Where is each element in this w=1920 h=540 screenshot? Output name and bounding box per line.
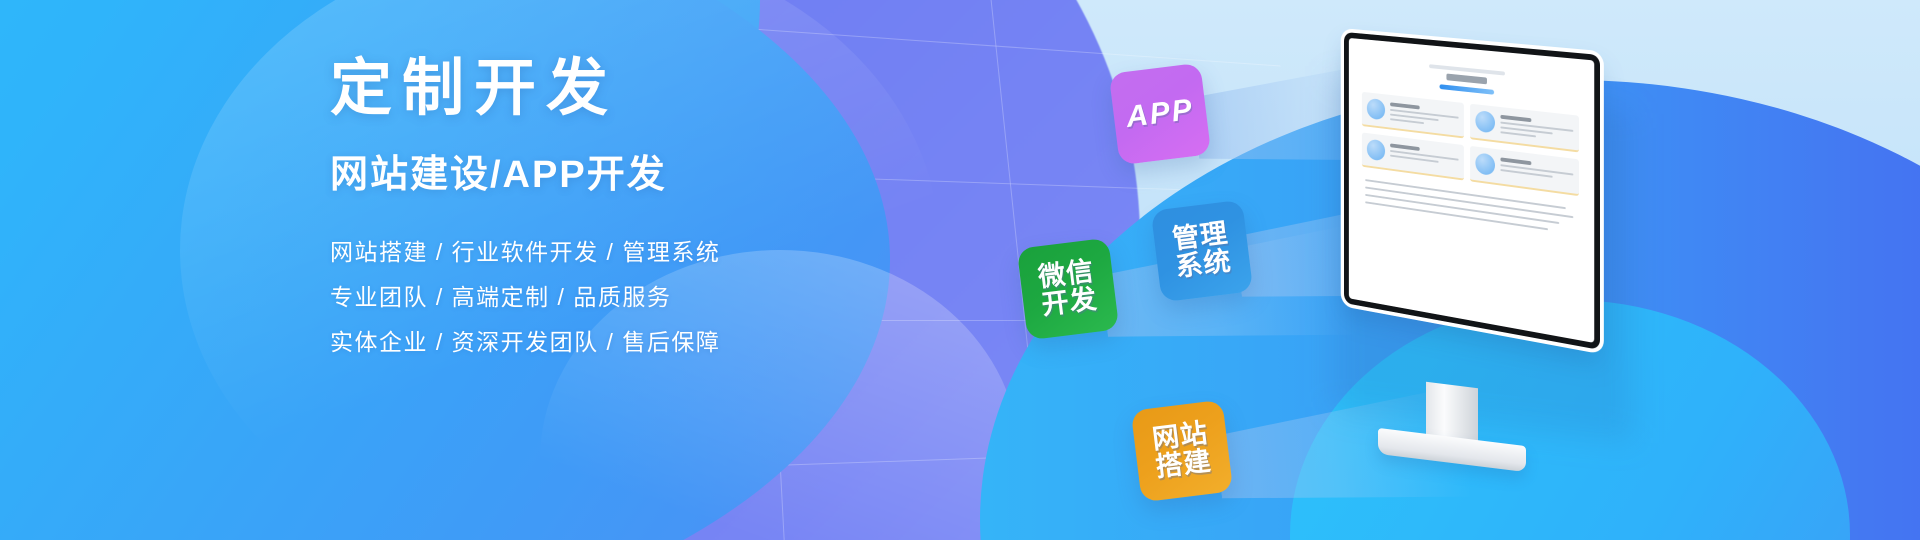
mock-card-text [1500, 113, 1573, 143]
mock-card [1470, 104, 1579, 153]
mock-card-icon [1367, 98, 1385, 121]
feature-item: 网站搭建 / 行业软件开发 / 管理系统 [330, 241, 890, 264]
service-card-wechat-dev[interactable]: 微信 开发 [1017, 238, 1120, 341]
service-card-app[interactable]: APP [1109, 63, 1212, 166]
feature-item: 专业团队 / 高端定制 / 品质服务 [330, 286, 890, 309]
mock-title [1446, 74, 1487, 85]
service-card-label: APP [1125, 95, 1196, 134]
mock-card-icon [1475, 110, 1495, 133]
mock-underline [1439, 84, 1494, 95]
monitor-illustration [1310, 55, 1640, 475]
service-card-label-line2: 开发 [1040, 286, 1099, 320]
mock-card-text [1390, 101, 1458, 130]
service-card-label-line2: 搭建 [1154, 448, 1213, 482]
mock-webpage [1349, 38, 1594, 343]
subheadline: 网站建设/APP开发 [330, 155, 890, 197]
mock-card-icon [1475, 152, 1495, 176]
mock-card [1362, 132, 1464, 180]
service-card-label-line2: 系统 [1174, 248, 1233, 282]
monitor-bezel [1344, 32, 1600, 350]
service-card-website-build[interactable]: 网站 搭建 [1131, 400, 1234, 503]
monitor-screen [1349, 38, 1594, 343]
mock-card-text [1390, 142, 1458, 172]
feature-item: 实体企业 / 资深开发团队 / 售后保障 [330, 331, 890, 354]
promo-banner: 定制开发 网站建设/APP开发 网站搭建 / 行业软件开发 / 管理系统 专业团… [0, 0, 1920, 540]
service-card-management-system[interactable]: 管理 系统 [1151, 200, 1254, 303]
mock-card [1362, 92, 1464, 139]
headline: 定制开发 [330, 56, 890, 121]
copy-block: 定制开发 网站建设/APP开发 网站搭建 / 行业软件开发 / 管理系统 专业团… [330, 56, 890, 376]
mock-card-text [1500, 155, 1573, 186]
mock-card [1470, 146, 1579, 196]
mock-card-grid [1362, 92, 1579, 196]
feature-list: 网站搭建 / 行业软件开发 / 管理系统 专业团队 / 高端定制 / 品质服务 … [330, 241, 890, 354]
mock-card-icon [1367, 139, 1385, 162]
mock-kicker [1429, 64, 1505, 75]
